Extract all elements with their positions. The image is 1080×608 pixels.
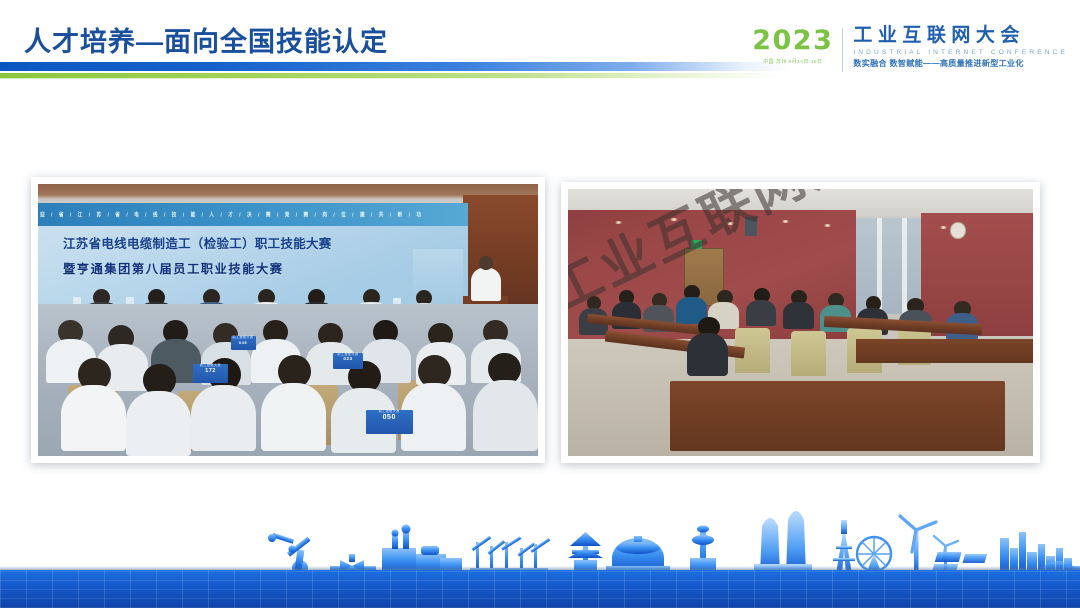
- banner-title-line1: 江苏省电线电缆制造工（检验工）职工技能大赛: [63, 234, 332, 252]
- banner-top-strip: 迎 / 省 / 江 / 苏 / 省 / 电 / 线 / 技 / 能 / 人 / …: [38, 203, 468, 226]
- contestant-badge-number: 023: [343, 356, 352, 361]
- footer-decoration: [0, 490, 1080, 608]
- header-rule-green-thin: [0, 78, 760, 79]
- logo-text-block: 工业互联网大会 INDUSTRIAL INTERNET CONFERENCE 数…: [843, 26, 1068, 69]
- photo-left[interactable]: 迎 / 省 / 江 / 苏 / 省 / 电 / 线 / 技 / 能 / 人 / …: [31, 177, 545, 463]
- photo-right-inner: 工业互联网大会 技能认定理论考试现场: [568, 189, 1033, 456]
- contestant-badge: 职工技能大赛 050: [366, 410, 414, 434]
- attendee-body: [473, 380, 538, 451]
- contestant-badge-label: 职工技能大赛: [366, 410, 414, 413]
- contestant-badge-number: 045: [239, 340, 247, 345]
- footer-grid-ground: [0, 570, 1080, 608]
- examinee-body: [687, 333, 729, 376]
- exam-chair: [791, 331, 826, 376]
- conference-logo: 2023 中国·苏州 9月14日-16日 工业互联网大会 INDUSTRIAL …: [752, 26, 1068, 82]
- ceiling-light-icon: [615, 221, 622, 224]
- city-skyline-icon: [0, 502, 1080, 574]
- logo-name-cn: 工业互联网大会: [853, 26, 1068, 47]
- banner-title-line2: 暨亨通集团第八届员工职业技能大赛: [63, 259, 284, 277]
- attendee-body: [61, 385, 126, 450]
- exam-desk-front-row: [856, 339, 1033, 363]
- attendee-body: [126, 391, 191, 456]
- room-wall-red-right: [921, 213, 1033, 336]
- exam-desk-front-row: [670, 381, 1005, 450]
- contestant-badge: 职工技能大赛 023: [333, 353, 363, 369]
- exam-room-image: 工业互联网大会 技能认定理论考试现场: [568, 189, 1033, 456]
- contestant-badge-label: 职工技能大赛: [193, 364, 228, 367]
- contestant-badge-label: 职工技能大赛: [231, 336, 256, 339]
- speaker-at-podium: [471, 268, 501, 301]
- wall-clock-icon: [950, 222, 966, 239]
- logo-year-subtitle: 中国·苏州 9月14日-16日: [763, 58, 822, 65]
- examinee-body: [783, 302, 814, 329]
- header-rule-blue: [0, 62, 790, 71]
- photo-right[interactable]: 工业互联网大会 技能认定理论考试现场: [561, 182, 1040, 463]
- contestant-badge: 职工技能大赛 172: [193, 364, 228, 383]
- logo-year-block: 2023 中国·苏州 9月14日-16日: [752, 26, 842, 65]
- attendee-body: [261, 383, 326, 451]
- contestant-badge-number: 172: [205, 368, 216, 374]
- slide-header: 人才培养—面向全国技能认定 2023 中国·苏州 9月14日-16日 工业互联网…: [0, 0, 1080, 100]
- logo-tagline: 数实融合 数智赋能——高质量推进新型工业化: [853, 58, 1068, 69]
- exit-sign-icon: [691, 240, 702, 249]
- wall-speaker-icon: [745, 217, 757, 236]
- photo-left-inner: 迎 / 省 / 江 / 苏 / 省 / 电 / 线 / 技 / 能 / 人 / …: [38, 184, 538, 456]
- attendee-body: [191, 385, 256, 450]
- logo-name-en: INDUSTRIAL INTERNET CONFERENCE: [853, 49, 1068, 56]
- ceiling-light-icon: [782, 220, 789, 223]
- competition-hall-image: 迎 / 省 / 江 / 苏 / 省 / 电 / 线 / 技 / 能 / 人 / …: [38, 184, 538, 456]
- ceiling-light-icon: [824, 224, 831, 227]
- contestant-badge: 职工技能大赛 045: [231, 336, 256, 350]
- page-title: 人才培养—面向全国技能认定: [24, 20, 388, 59]
- contestant-badge-number: 050: [383, 414, 396, 421]
- skyline-shapes-tall: [754, 511, 958, 574]
- contestant-badge-label: 职工技能大赛: [333, 353, 363, 356]
- examinee-body: [746, 300, 777, 327]
- logo-year: 2023: [752, 27, 833, 55]
- banner-strip-text: 迎 / 省 / 江 / 苏 / 省 / 电 / 线 / 技 / 能 / 人 / …: [38, 211, 424, 219]
